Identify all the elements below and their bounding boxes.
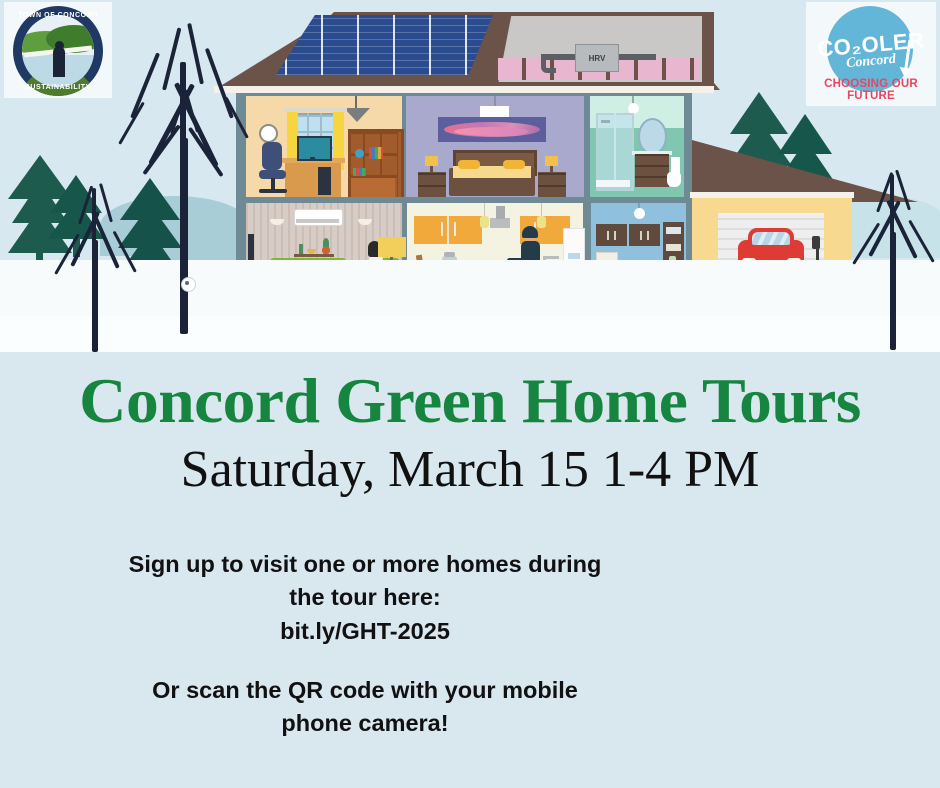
refrigerator-panel [568, 253, 580, 259]
kitchen-pendant-lamp [537, 216, 546, 228]
signup-instructions: Sign up to visit one or more homes durin… [20, 548, 710, 741]
range-hood-duct [496, 206, 505, 219]
text-panel: Concord Green Home Tours Saturday, March… [0, 352, 940, 788]
shelf-plant [323, 238, 329, 247]
hrv-label: HRV [589, 54, 606, 63]
office-globe [355, 149, 364, 158]
soccer-ball [181, 277, 196, 292]
office-chair-back [262, 142, 282, 170]
town-of-concord-seal: TOWN OF CONCORD SUSTAINABILITY [4, 2, 112, 98]
cabinet-handle [454, 222, 456, 236]
office-desk [285, 160, 341, 197]
floor-lamp-shade [378, 237, 406, 257]
seal-ring: TOWN OF CONCORD SUSTAINABILITY [13, 6, 103, 96]
kitchen-pendant-cord [484, 203, 485, 217]
vanity-drawers [635, 153, 669, 187]
office-monitor-stand [310, 157, 315, 161]
office-curtain-rod [284, 108, 347, 112]
cabinet-handle [640, 231, 642, 240]
roof-eave [214, 86, 714, 93]
event-datetime: Saturday, March 15 1-4 PM [0, 444, 940, 496]
bathroom-mirror [638, 118, 667, 155]
laundry-light-bulb [634, 208, 645, 219]
poster-root: HRV [0, 0, 940, 788]
lamp-right-base [550, 166, 553, 172]
house-illustration: HRV [0, 0, 940, 352]
shower-head [601, 120, 610, 123]
kitchen-faucet-arm [543, 256, 559, 259]
nightstand-right-drawers [538, 172, 566, 197]
range-hood [490, 218, 510, 228]
paragraph-spacer [20, 648, 710, 674]
kitchen-pendant-lamp [480, 216, 489, 228]
signup-url[interactable]: bit.ly/GHT-2025 [20, 615, 710, 648]
kitchen-kettle-lid [444, 252, 455, 257]
floating-shelf [294, 254, 334, 257]
cabinet-handle [614, 231, 616, 240]
office-chair-base [259, 189, 287, 193]
mini-split-heat-pump [294, 209, 343, 226]
cooler-concord-logo: CO₂OLER Concord CHOOSING OUR FUTURE [806, 2, 936, 106]
seal-bottom-text: SUSTAINABILITY [13, 84, 103, 91]
artwork-swirl [454, 127, 528, 136]
nightstand-left-drawers [418, 172, 446, 197]
cooler-tagline: CHOOSING OUR FUTURE [806, 78, 936, 102]
shelf-bottle [299, 244, 303, 254]
shower-tray [596, 180, 630, 187]
shelf-vase [322, 246, 330, 254]
bed-pillow [458, 160, 480, 169]
hrv-elbow [541, 54, 556, 73]
office-pendant-shade [344, 108, 370, 122]
seal-top-text: TOWN OF CONCORD [13, 12, 103, 19]
office-books [369, 147, 383, 159]
page-title: Concord Green Home Tours [0, 370, 940, 433]
lamp-left-shade [425, 156, 438, 166]
toilet-bowl [667, 172, 681, 187]
shower-glass-divider [614, 113, 616, 187]
cook-person-hair [522, 226, 538, 238]
kitchen-upper-cabinet-gap [447, 216, 449, 244]
shelf-item-towels [666, 227, 681, 234]
qr-instructions-line-1: Or scan the QR code with your mobile [20, 674, 710, 707]
qr-instructions-line-2: phone camera! [20, 707, 710, 740]
lamp-right-shade [545, 156, 558, 166]
office-pc-tower [318, 167, 331, 195]
kitchen-pendant-cord [541, 203, 542, 217]
signup-line-1: Sign up to visit one or more homes durin… [20, 548, 710, 581]
cabinet-handle [441, 222, 443, 236]
shelf-item-towels [666, 244, 681, 251]
lamp-left-base [430, 166, 433, 172]
cabinet-handle [607, 231, 609, 240]
toilet-tank [671, 157, 680, 173]
hrv-unit: HRV [575, 44, 619, 72]
seal-inner-scene [22, 15, 94, 87]
office-cabinet-doors [351, 176, 395, 197]
bare-tree [48, 170, 148, 350]
signup-line-2: the tour here: [20, 581, 710, 614]
seal-minuteman-figure [53, 47, 65, 77]
electric-vehicle-windshield-stripe [752, 232, 790, 245]
laundry-upper-cabinet [596, 224, 627, 246]
bed-pillow [503, 160, 525, 169]
office-wall-clock [259, 124, 278, 143]
bedroom-artwork [438, 117, 546, 142]
bare-tree [848, 160, 940, 352]
laundry-upper-cabinet [629, 224, 660, 246]
cabinet-handle [647, 231, 649, 240]
garage-fascia [690, 192, 854, 198]
mini-split-vent [296, 219, 339, 223]
